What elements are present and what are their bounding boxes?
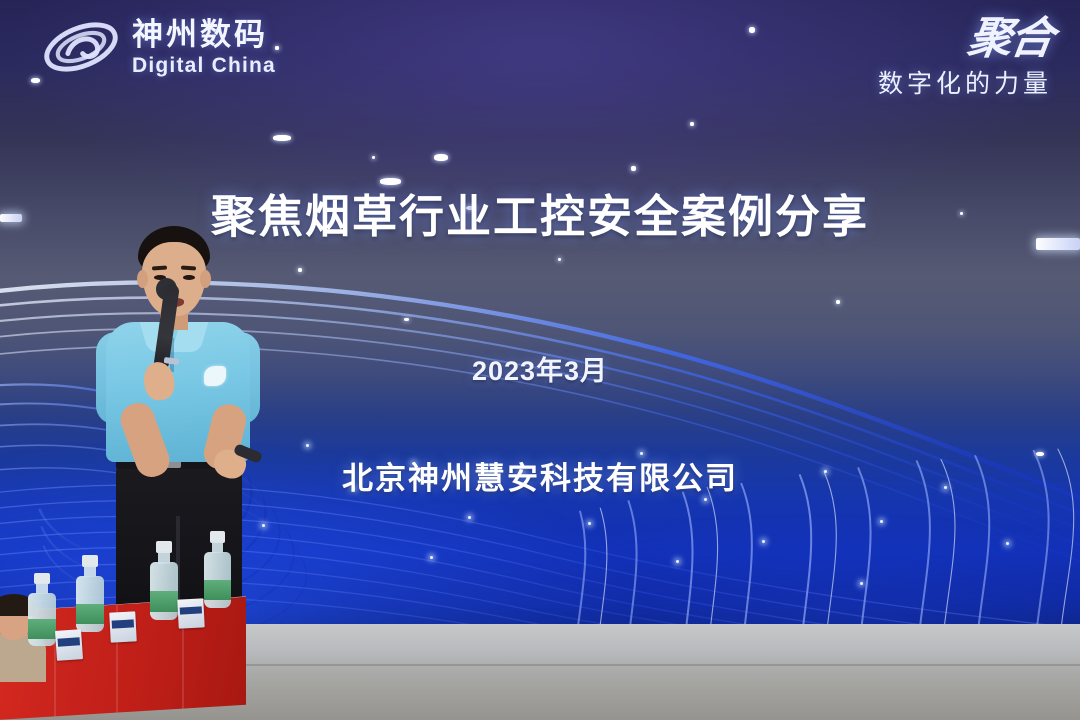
bottle-label	[150, 591, 178, 612]
bottle-label	[28, 619, 56, 638]
bottle-label	[76, 604, 104, 624]
swirl-spiral-icon	[40, 14, 122, 80]
presentation-photo-scene: 神州数码 Digital China 聚合 数字化的力量 聚焦烟草行业工控安全案…	[0, 0, 1080, 720]
name-card	[177, 598, 204, 628]
water-bottle	[28, 574, 56, 646]
digital-china-logo: 神州数码 Digital China	[40, 14, 276, 80]
water-bottle	[76, 556, 104, 632]
speaker-shirt-logo-icon	[204, 366, 226, 386]
name-card-strip	[180, 606, 202, 615]
speaker-eye-right	[183, 275, 195, 280]
speaker-presenter	[92, 226, 272, 626]
name-card-strip	[58, 637, 80, 646]
bottle-body	[150, 562, 178, 620]
name-card-strip	[112, 619, 134, 628]
name-card	[55, 629, 83, 661]
speaker-ear-left	[137, 270, 148, 288]
speaker-ear-right	[200, 270, 211, 288]
event-logo-calligraphy: 聚合	[875, 18, 1055, 60]
bottle-label	[204, 580, 231, 600]
bottle-body	[204, 552, 231, 608]
event-logo-subtitle: 数字化的力量	[878, 64, 1052, 100]
event-logo: 聚合 数字化的力量	[878, 18, 1052, 100]
water-bottle	[204, 532, 231, 608]
brand-name-en: Digital China	[132, 55, 276, 76]
bottle-body	[76, 576, 104, 632]
name-card	[109, 611, 137, 642]
bottle-body	[28, 593, 56, 646]
brand-name-cn: 神州数码	[132, 19, 276, 50]
water-bottle	[150, 542, 178, 620]
